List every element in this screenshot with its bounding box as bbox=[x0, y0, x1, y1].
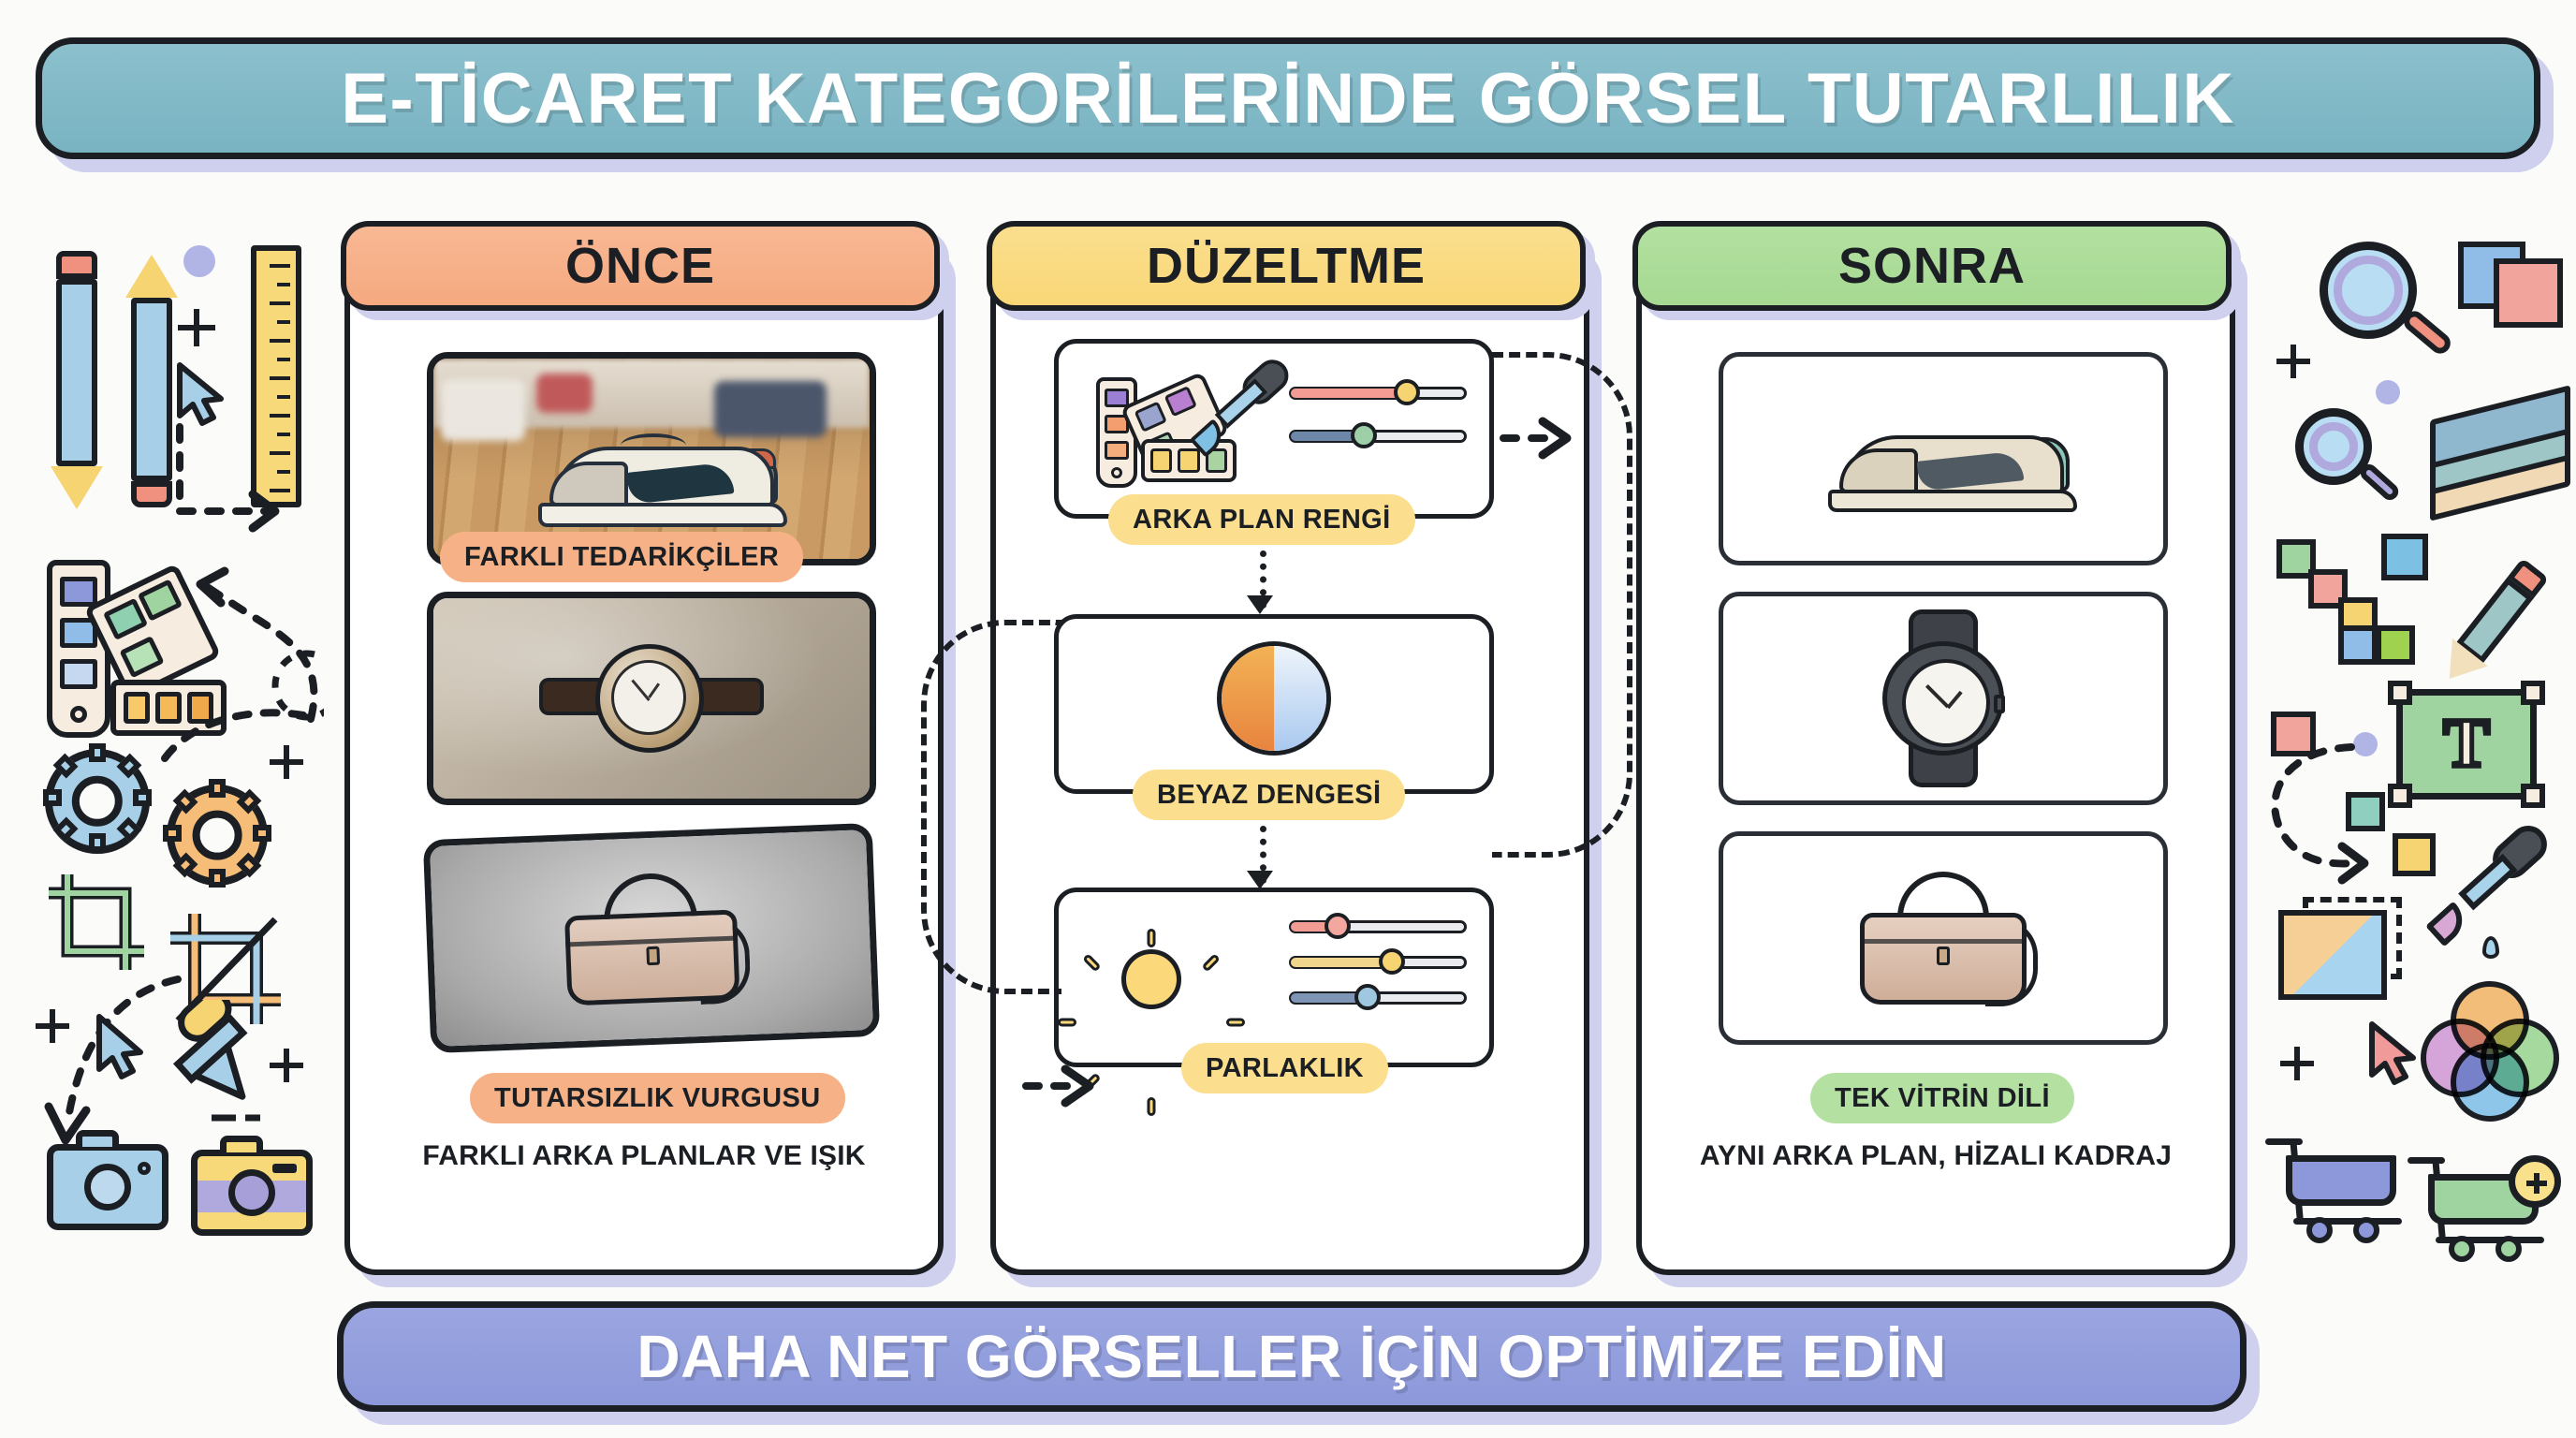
summary-badge-text: TEK VİTRİN DİLİ bbox=[1835, 1083, 2050, 1114]
text-tool-icon: T bbox=[2396, 689, 2537, 800]
column-header-fix: DÜZELTME bbox=[987, 221, 1586, 311]
camera-icon bbox=[191, 1150, 313, 1236]
step-label-white-balance: BEYAZ DENGESİ bbox=[1133, 770, 1405, 820]
infographic-canvas: E-TİCARET KATEGORİLERİNDE GÖRSEL TUTARLI… bbox=[0, 0, 2576, 1438]
crop-icon bbox=[45, 871, 148, 974]
pencil-icon bbox=[56, 251, 97, 504]
magnifier-icon bbox=[2295, 408, 2417, 530]
step-card-background-color bbox=[1054, 339, 1494, 519]
feedback-loop-arrow-left bbox=[1020, 1058, 1095, 1114]
feedback-loop-arrow-right bbox=[1498, 410, 1573, 466]
camera-icon bbox=[47, 1144, 168, 1230]
slider-icon bbox=[1289, 381, 1467, 467]
plus-icon bbox=[2276, 345, 2310, 378]
summary-badge-after: TEK VİTRİN DİLİ bbox=[1810, 1073, 2074, 1123]
column-header-before: ÖNCE bbox=[341, 221, 940, 311]
gear-icon bbox=[45, 749, 150, 854]
column-header-label: ÖNCE bbox=[565, 237, 715, 295]
warm-cool-split-circle-icon bbox=[1217, 641, 1331, 756]
selection-icon bbox=[2278, 897, 2402, 1000]
flow-arrow-head bbox=[1247, 595, 1273, 614]
page-title: E-TİCARET KATEGORİLERİNDE GÖRSEL TUTARLI… bbox=[341, 58, 2235, 139]
add-to-cart-icon bbox=[2408, 1148, 2548, 1258]
dashed-arrow-icon bbox=[168, 421, 290, 552]
summary-text-before: FARKLI ARKA PLANLAR VE IŞIK bbox=[350, 1140, 938, 1172]
layers-icon bbox=[2430, 403, 2570, 506]
title-banner: E-TİCARET KATEGORİLERİNDE GÖRSEL TUTARLI… bbox=[36, 37, 2540, 159]
dashed-arrow-icon bbox=[2247, 741, 2396, 891]
product-photo-watch-clean bbox=[1719, 592, 2168, 805]
eyedropper-icon bbox=[2428, 833, 2550, 955]
flow-arrow-head bbox=[1247, 871, 1273, 889]
watch-illustration bbox=[1864, 609, 2023, 787]
product-photo-handbag-clean bbox=[1719, 831, 2168, 1045]
slider-icon bbox=[1289, 915, 1467, 1029]
step-label-text: PARLAKLIK bbox=[1206, 1053, 1364, 1084]
photo-caption-text: FARKLI TEDARİKÇİLER bbox=[464, 542, 779, 573]
cursor-icon bbox=[92, 1013, 148, 1082]
eyedropper-icon bbox=[1190, 366, 1291, 463]
plus-icon bbox=[270, 1049, 303, 1082]
product-photo-handbag bbox=[423, 823, 880, 1053]
cursor-icon bbox=[172, 361, 228, 429]
summary-badge-before: TUTARSIZLIK VURGUSU bbox=[470, 1073, 845, 1123]
summary-text-after: AYNI ARKA PLAN, HİZALI KADRAJ bbox=[1642, 1140, 2230, 1172]
step-card-brightness bbox=[1054, 888, 1494, 1067]
column-header-label: DÜZELTME bbox=[1147, 237, 1426, 295]
column-before: ÖNCE FARKLI TEDARİKÇİLER bbox=[344, 236, 944, 1275]
footer-cta-banner: DAHA NET GÖRSELLER İÇİN OPTİMİZE EDİN bbox=[337, 1301, 2247, 1412]
step-label-brightness: PARLAKLIK bbox=[1181, 1043, 1388, 1093]
eyedropper-icon bbox=[157, 1000, 279, 1131]
product-photo-watch bbox=[427, 592, 876, 805]
column-fix: DÜZELTME bbox=[990, 236, 1589, 1275]
sneaker-illustration bbox=[1828, 415, 2077, 512]
square-icon bbox=[2494, 258, 2563, 328]
step-label-text: BEYAZ DENGESİ bbox=[1157, 780, 1381, 811]
column-after: SONRA TEK VİTR bbox=[1636, 236, 2235, 1275]
plus-icon bbox=[270, 745, 303, 779]
shopping-cart-icon bbox=[2265, 1129, 2406, 1240]
cursor-icon bbox=[2364, 1020, 2419, 1088]
pencil-icon bbox=[131, 255, 172, 504]
handbag-illustration bbox=[1843, 864, 2043, 1012]
step-label-background-color: ARKA PLAN RENGİ bbox=[1108, 494, 1415, 545]
magnifier-icon bbox=[2320, 242, 2469, 391]
watch-illustration bbox=[539, 642, 764, 755]
handbag-illustration bbox=[546, 864, 757, 1012]
photo-caption-badge: FARKLI TEDARİKÇİLER bbox=[440, 532, 803, 582]
sneaker-illustration bbox=[538, 430, 787, 527]
color-wheel-icon bbox=[2421, 981, 2561, 1122]
column-header-label: SONRA bbox=[1838, 237, 2026, 295]
product-photo-sneaker-clean bbox=[1719, 352, 2168, 565]
sun-icon bbox=[1102, 930, 1201, 1029]
gear-icon bbox=[167, 785, 268, 886]
dot-icon bbox=[2376, 380, 2400, 404]
plus-icon bbox=[178, 309, 215, 346]
dot-icon bbox=[183, 245, 215, 277]
footer-cta-text: DAHA NET GÖRSELLER İÇİN OPTİMİZE EDİN bbox=[637, 1322, 1946, 1391]
pixel-stair-icon bbox=[2276, 539, 2417, 661]
plus-icon bbox=[2280, 1047, 2314, 1080]
feedback-loop-left bbox=[921, 620, 1061, 994]
plus-badge-icon bbox=[2509, 1155, 2561, 1208]
column-header-after: SONRA bbox=[1632, 221, 2232, 311]
summary-badge-text: TUTARSIZLIK VURGUSU bbox=[494, 1083, 821, 1114]
step-label-text: ARKA PLAN RENGİ bbox=[1133, 505, 1391, 536]
step-card-white-balance bbox=[1054, 614, 1494, 794]
pencil-icon bbox=[2442, 558, 2550, 682]
